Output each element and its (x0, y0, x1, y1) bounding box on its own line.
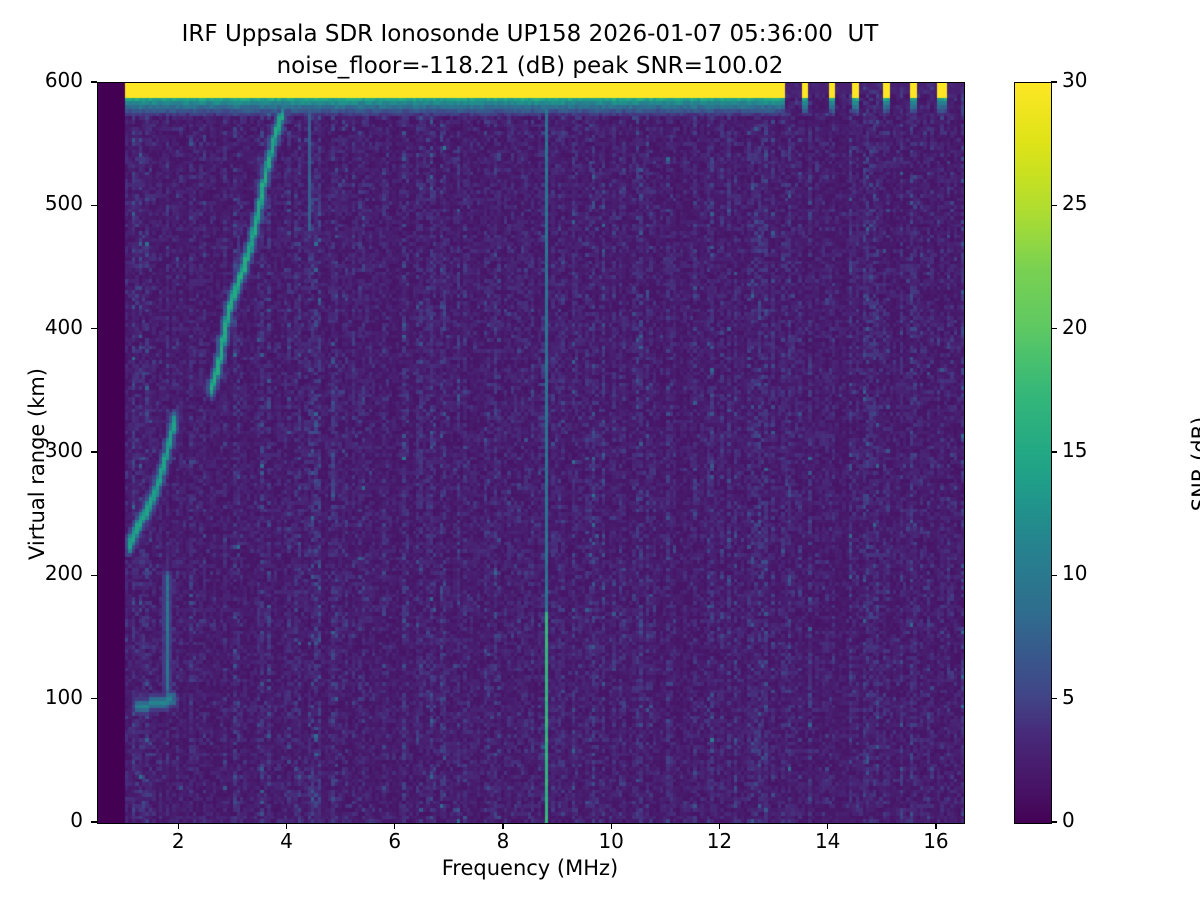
colorbar-tick-label: 5 (1062, 685, 1075, 709)
colorbar-tick-label: 15 (1062, 438, 1087, 462)
colorbar-tick-mark (1051, 81, 1057, 82)
colorbar-tick-mark (1051, 575, 1057, 576)
y-tick-mark (91, 451, 97, 452)
title-line-secondary: noise_floor=-118.21 (dB) peak SNR=100.02 (0, 50, 1060, 82)
x-tick-label: 10 (581, 829, 641, 853)
x-tick-label: 14 (798, 829, 858, 853)
x-tick-label: 8 (473, 829, 533, 853)
y-tick-mark (91, 821, 97, 822)
colorbar-tick-mark (1051, 698, 1057, 699)
colorbar-tick-label: 0 (1062, 808, 1075, 832)
y-tick-label: 0 (1, 808, 83, 832)
y-tick-label: 200 (1, 561, 83, 585)
colorbar-tick-mark (1051, 821, 1057, 822)
y-tick-label: 600 (1, 68, 83, 92)
colorbar-tick-label: 30 (1062, 68, 1087, 92)
ionogram-heatmap-canvas[interactable] (98, 83, 964, 823)
y-tick-mark (91, 328, 97, 329)
y-tick-mark (91, 575, 97, 576)
snr-colorbar[interactable] (1014, 82, 1052, 824)
colorbar-tick-label: 10 (1062, 561, 1087, 585)
y-tick-label: 400 (1, 315, 83, 339)
x-tick-label: 12 (689, 829, 749, 853)
title-line-primary: IRF Uppsala SDR Ionosonde UP158 2026-01-… (0, 18, 1060, 50)
y-tick-label: 500 (1, 191, 83, 215)
y-tick-mark (91, 205, 97, 206)
colorbar-tick-mark (1051, 451, 1057, 452)
x-tick-label: 6 (365, 829, 425, 853)
y-tick-label: 300 (1, 438, 83, 462)
x-tick-label: 16 (906, 829, 966, 853)
x-axis-label: Frequency (MHz) (97, 856, 963, 880)
ionogram-plot-area[interactable] (97, 82, 965, 824)
x-tick-label: 4 (256, 829, 316, 853)
colorbar-tick-label: 20 (1062, 315, 1087, 339)
y-tick-mark (91, 81, 97, 82)
colorbar-gradient (1015, 83, 1051, 823)
ionogram-figure: IRF Uppsala SDR Ionosonde UP158 2026-01-… (0, 0, 1200, 900)
y-tick-label: 100 (1, 685, 83, 709)
colorbar-tick-label: 25 (1062, 191, 1087, 215)
colorbar-label: SNR (dB) (1188, 264, 1200, 664)
x-tick-label: 2 (148, 829, 208, 853)
colorbar-tick-mark (1051, 328, 1057, 329)
colorbar-tick-mark (1051, 205, 1057, 206)
figure-title: IRF Uppsala SDR Ionosonde UP158 2026-01-… (0, 18, 1060, 82)
y-tick-mark (91, 698, 97, 699)
